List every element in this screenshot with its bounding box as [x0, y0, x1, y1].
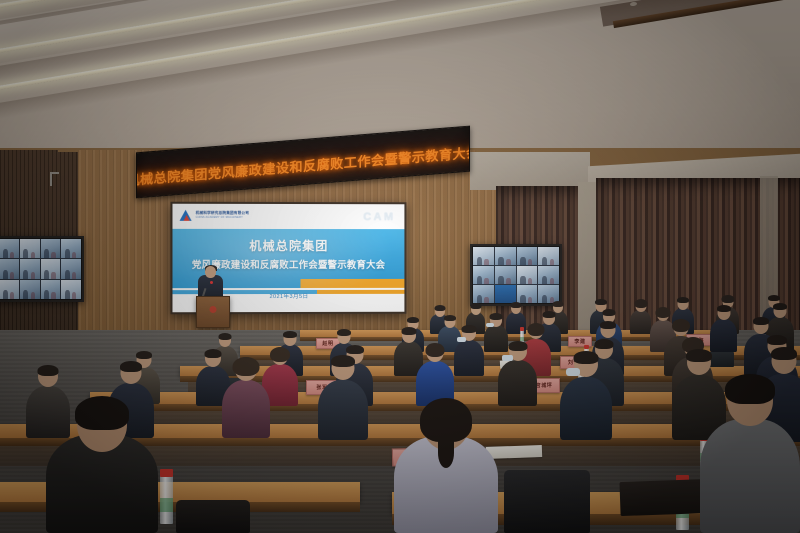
chair: [504, 470, 590, 533]
attendee: [710, 306, 737, 352]
screen-title: 机械总院集团: [172, 237, 404, 254]
right-video-wall: [470, 244, 562, 306]
company-logo: 机械科学研究总院集团有限公司 CHINA ACADEMY OF MACHINER…: [180, 210, 250, 221]
face-mask-icon: [566, 368, 580, 376]
attendee-foreground-left: [46, 396, 158, 533]
cam-watermark: CAM: [363, 211, 395, 223]
face-mask-icon: [502, 355, 513, 361]
attendee-foreground-right: [700, 374, 800, 533]
attendee: [454, 326, 484, 376]
screen-header: 机械科学研究总院集团有限公司 CHINA ACADEMY OF MACHINER…: [172, 204, 404, 229]
attendee: [416, 344, 454, 406]
face-mask-icon: [457, 337, 466, 342]
face-mask-icon: [486, 323, 494, 327]
attendee: [318, 356, 368, 440]
podium: [196, 296, 230, 328]
door-handle-bar: [50, 172, 59, 174]
ponytail: [438, 438, 454, 468]
left-video-wall: [0, 236, 84, 302]
chair: [176, 500, 250, 533]
conference-hall-photo: 机械总院集团党风廉政建设和反腐败工作会暨警示教育大会 机械科学研究总院集团有限公…: [0, 0, 800, 533]
attendee-foreground-center: [394, 398, 498, 533]
logo-text: 机械科学研究总院集团有限公司 CHINA ACADEMY OF MACHINER…: [196, 211, 249, 220]
logo-mark-icon: [180, 210, 193, 221]
attendee: [560, 352, 612, 440]
attendee: [498, 342, 537, 406]
speaker-head: [205, 266, 216, 278]
attendee: [630, 300, 651, 334]
attendee: [222, 358, 270, 438]
speaker-lapel-pin: [210, 281, 213, 284]
water-bottle-foreground: [160, 476, 173, 524]
door-handle: [50, 172, 52, 186]
podium-emblem-icon: [210, 306, 217, 313]
